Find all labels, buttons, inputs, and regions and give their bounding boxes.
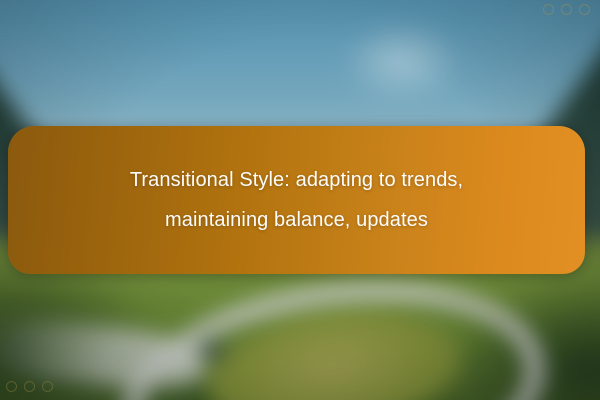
title-banner: Transitional Style: adapting to trends, … — [8, 126, 585, 274]
cloud-upper — [341, 18, 463, 104]
slide-canvas: Transitional Style: adapting to trends, … — [0, 0, 600, 400]
page-title: Transitional Style: adapting to trends, … — [87, 160, 507, 240]
circle-outline-icon — [6, 381, 17, 392]
circle-outline-icon — [24, 381, 35, 392]
car-on-road — [201, 344, 223, 357]
circle-outline-icon — [543, 4, 554, 15]
circle-outline-icon — [561, 4, 572, 15]
circle-outline-icon — [579, 4, 590, 15]
circle-outline-icon — [42, 381, 53, 392]
decorative-rings-bottom-left — [6, 381, 53, 392]
decorative-rings-top-right — [543, 4, 590, 15]
